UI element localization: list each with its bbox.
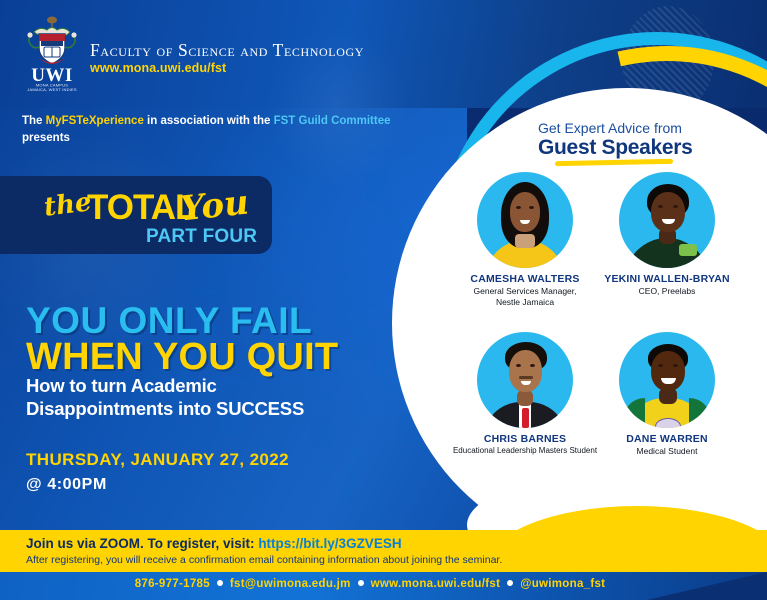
speaker-card[interactable]: CAMESHA WALTERS General Services Manager… bbox=[450, 172, 600, 308]
faculty-title: Faculty of Science and Technology bbox=[90, 40, 364, 61]
speaker-role: Educational Leadership Masters Student bbox=[450, 446, 600, 456]
presents-part1: The bbox=[22, 115, 46, 127]
badge-the-label: the bbox=[42, 187, 93, 223]
headline-subtitle: How to turn Academic Disappointments int… bbox=[26, 374, 304, 420]
speaker-photo bbox=[619, 172, 715, 268]
flyer-header: UWI MONA CAMPUS JAMAICA, WEST INDIES Fac… bbox=[0, 0, 767, 108]
speakers-title: Guest Speakers bbox=[538, 136, 693, 160]
svg-text:JAMAICA, WEST INDIES: JAMAICA, WEST INDIES bbox=[27, 87, 77, 92]
faculty-website-url[interactable]: www.mona.uwi.edu/fst bbox=[90, 61, 226, 75]
badge-part-label: PART FOUR bbox=[146, 226, 257, 248]
event-time: @ 4:00PM bbox=[26, 476, 107, 494]
presents-line: The MyFSTeXperience in association with … bbox=[22, 113, 442, 146]
event-flyer: UWI MONA CAMPUS JAMAICA, WEST INDIES Fac… bbox=[0, 0, 767, 600]
speaker-name: CHRIS BARNES bbox=[450, 433, 600, 445]
contact-social[interactable]: @uwimona_fst bbox=[520, 578, 605, 590]
event-date: THURSDAY, JANUARY 27, 2022 bbox=[26, 450, 289, 470]
registration-link[interactable]: https://bit.ly/3GZVESH bbox=[258, 536, 401, 551]
speaker-name: YEKINI WALLEN-BRYAN bbox=[592, 273, 742, 285]
speaker-card[interactable]: YEKINI WALLEN-BRYAN CEO, Preelabs bbox=[592, 172, 742, 297]
presents-part2: in association with the bbox=[144, 115, 274, 127]
contact-phone[interactable]: 876-977-1785 bbox=[135, 578, 210, 590]
registration-note: After registering, you will receive a co… bbox=[26, 554, 502, 566]
org-myfstexperience: MyFSTeXperience bbox=[46, 115, 144, 127]
speaker-role: CEO, Preelabs bbox=[592, 286, 742, 297]
bullet-dot-icon bbox=[358, 580, 364, 586]
speaker-photo bbox=[477, 172, 573, 268]
speaker-role: Medical Student bbox=[592, 446, 742, 457]
speakers-pretitle: Get Expert Advice from bbox=[538, 120, 682, 136]
contact-email[interactable]: fst@uwimona.edu.jm bbox=[230, 578, 351, 590]
registration-headline: Join us via ZOOM. To register, visit: ht… bbox=[26, 536, 402, 551]
speaker-photo bbox=[477, 332, 573, 428]
presents-part3: presents bbox=[22, 132, 70, 144]
headline-line-2: WHEN YOU QUIT bbox=[26, 336, 338, 379]
headline-subtitle-line-1: How to turn Academic bbox=[26, 375, 217, 396]
speaker-role: General Services Manager, Nestle Jamaica bbox=[450, 286, 600, 308]
speaker-name: DANE WARREN bbox=[592, 433, 742, 445]
registration-join-text: Join us via ZOOM. To register, visit: bbox=[26, 536, 258, 551]
badge-you-label: You bbox=[178, 183, 251, 230]
org-fst-guild: FST Guild Committee bbox=[274, 115, 391, 127]
speaker-photo bbox=[619, 332, 715, 428]
bullet-dot-icon bbox=[217, 580, 223, 586]
speaker-name: CAMESHA WALTERS bbox=[450, 273, 600, 285]
bullet-dot-icon bbox=[507, 580, 513, 586]
headline-subtitle-line-2: Disappointments into SUCCESS bbox=[26, 398, 304, 419]
speaker-card[interactable]: CHRIS BARNES Educational Leadership Mast… bbox=[450, 332, 600, 456]
uwi-crest-logo: UWI MONA CAMPUS JAMAICA, WEST INDIES bbox=[22, 14, 82, 92]
contact-info: 876-977-1785fst@uwimona.edu.jmwww.mona.u… bbox=[0, 578, 740, 590]
speaker-card[interactable]: DANE WARREN Medical Student bbox=[592, 332, 742, 457]
contact-website[interactable]: www.mona.uwi.edu/fst bbox=[371, 578, 501, 590]
